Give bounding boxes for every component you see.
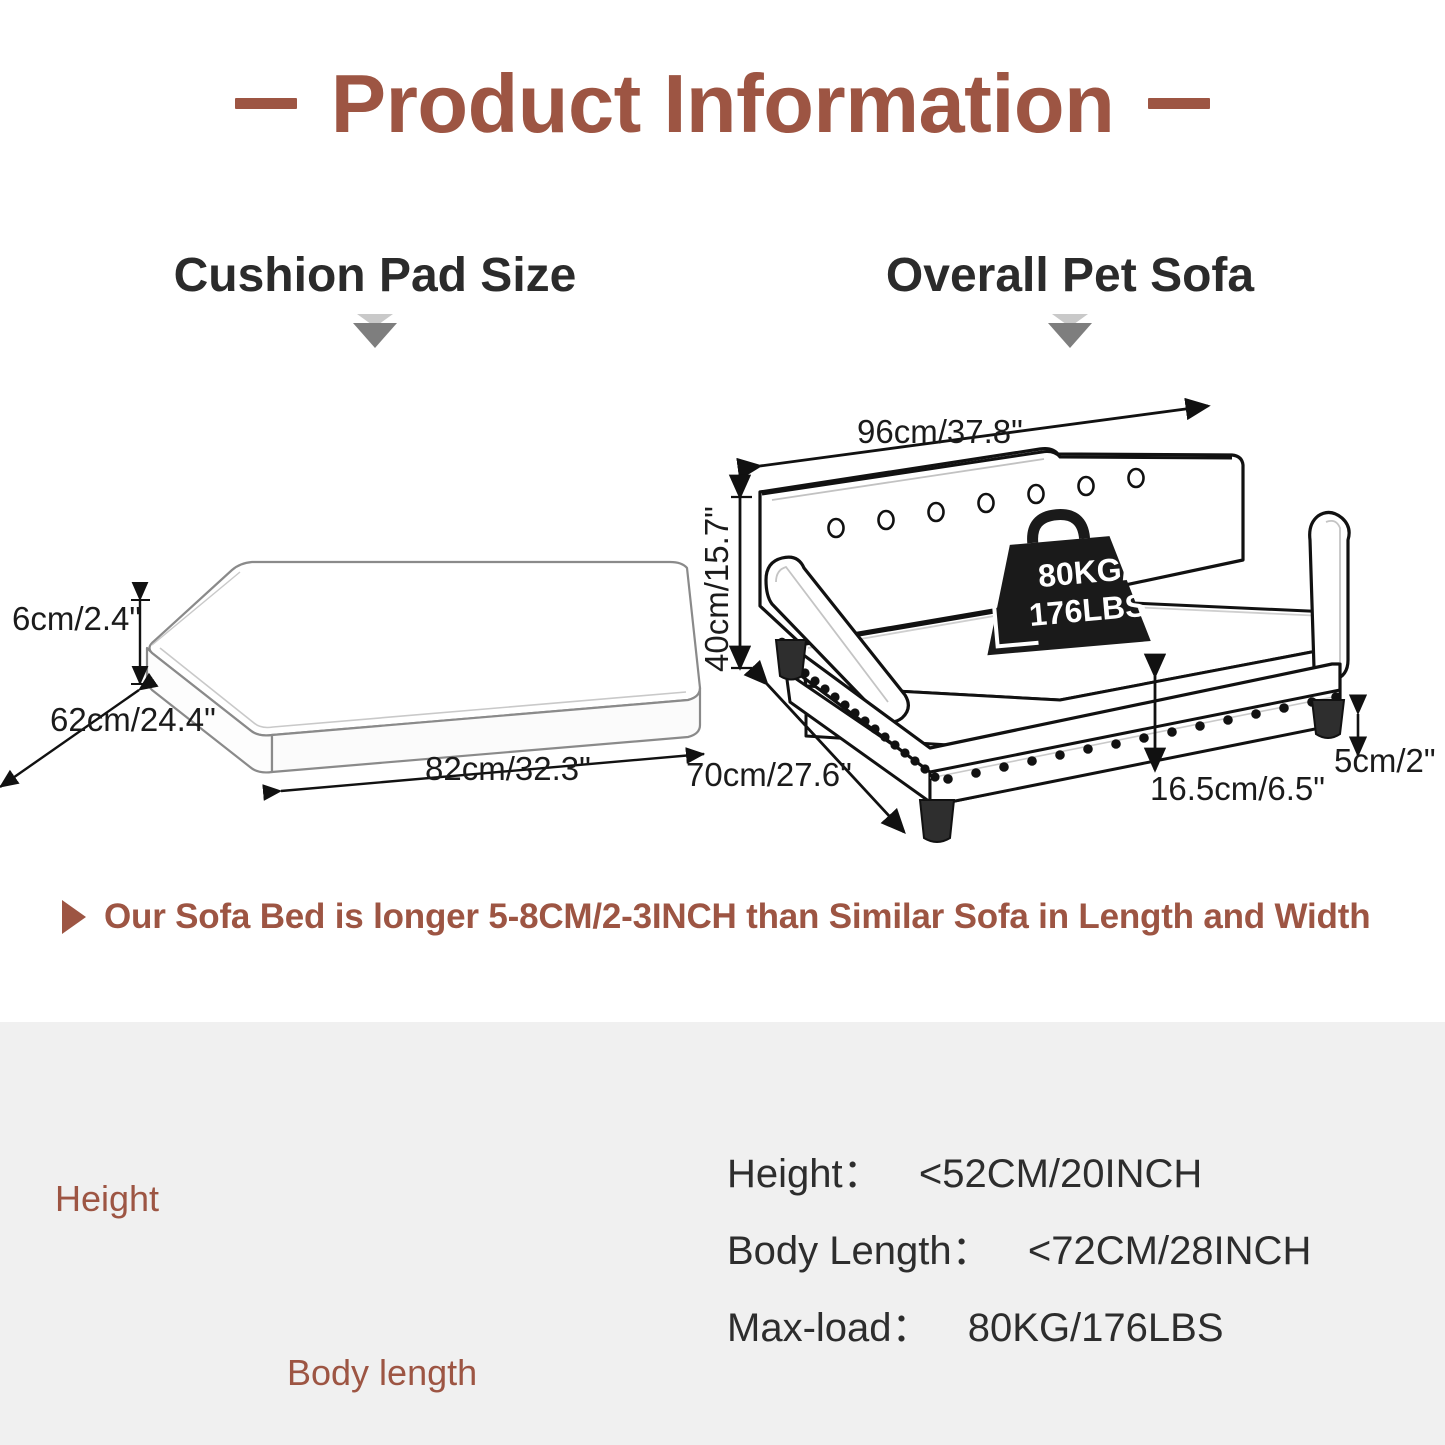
spec-value-body-length: <72CM/28INCH — [1028, 1229, 1311, 1273]
spec-label-body-length: Body Length： — [727, 1229, 992, 1273]
tagline-row: Our Sofa Bed is longer 5-8CM/2-3INCH tha… — [62, 897, 1402, 937]
pet-spec-list: Height： <52CM/20INCH Body Length： <72CM/… — [727, 1152, 1427, 1350]
spec-row-height: Height： <52CM/20INCH — [727, 1152, 1427, 1196]
sofa-dim-width: 96cm/37.8" — [857, 415, 1023, 450]
cushion-dim-depth: 62cm/24.4" — [50, 703, 216, 738]
spec-value-height: <52CM/20INCH — [919, 1152, 1202, 1196]
spec-row-max-load: Max-load： 80KG/176LBS — [727, 1306, 1427, 1350]
tagline-text: Our Sofa Bed is longer 5-8CM/2-3INCH tha… — [104, 897, 1370, 937]
spec-label-height: Height： — [727, 1152, 883, 1196]
dog-height-label: Height — [55, 1178, 159, 1220]
cushion-dim-thickness: 6cm/2.4" — [12, 602, 141, 637]
cushion-pad-isometric-drawing — [0, 562, 704, 791]
sofa-dim-height: 40cm/15.7" — [700, 506, 735, 672]
sofa-dim-depth: 70cm/27.6" — [686, 758, 852, 793]
spec-value-max-load: 80KG/176LBS — [968, 1306, 1224, 1350]
sofa-dim-base-height: 16.5cm/6.5" — [1150, 772, 1325, 807]
sofa-dim-leg-height: 5cm/2" — [1334, 744, 1436, 779]
cushion-dim-length: 82cm/32.3" — [425, 752, 591, 787]
triangle-right-icon — [62, 900, 86, 934]
spec-row-body-length: Body Length： <72CM/28INCH — [727, 1229, 1427, 1273]
dog-body-length-label: Body length — [287, 1352, 477, 1394]
spec-label-max-load: Max-load： — [727, 1306, 932, 1350]
